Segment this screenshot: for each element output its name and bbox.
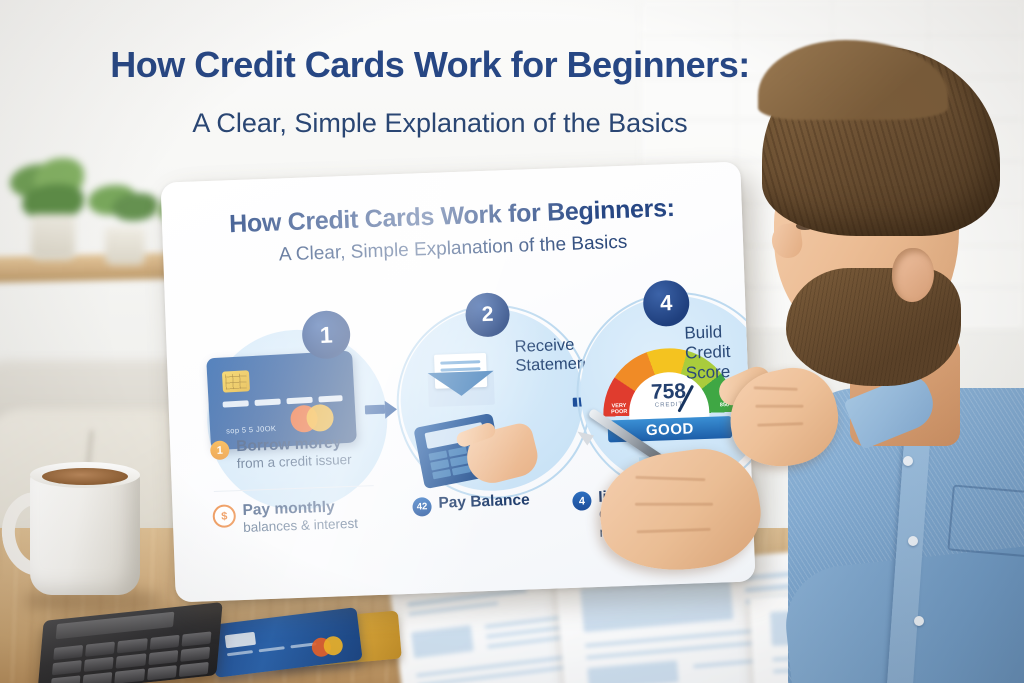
- headline-title: How Credit Cards Work for Beginners:: [0, 44, 860, 86]
- coffee-mug: [30, 470, 140, 595]
- coffee-surface: [42, 468, 128, 485]
- bullet-2-badge: $: [212, 504, 236, 528]
- shirt-button-1: [903, 456, 913, 466]
- shirt-button-3: [914, 616, 924, 626]
- bullet-3-badge: 42: [412, 497, 432, 517]
- beard: [786, 268, 961, 386]
- shirt-pocket: [947, 484, 1024, 557]
- gauge-low-label: VERY POOR: [608, 404, 630, 416]
- bullet-1-badge: 1: [210, 440, 230, 460]
- step-4-number: 4: [660, 290, 673, 316]
- bullet-pay-balance: 42 Pay Balance: [412, 489, 593, 517]
- card-holder-name: sop 5 5 J0OK: [226, 424, 277, 436]
- headline-subtitle-wrap: A Clear, Simple Explanation of the Basic…: [0, 108, 880, 139]
- bullet-4-badge-label: 4: [579, 495, 586, 507]
- bullet-2-badge-label: $: [221, 510, 228, 522]
- mastercard-circle-yellow-icon: [306, 404, 334, 432]
- bullet-3-badge-label: 42: [417, 501, 428, 512]
- shirt-button-2: [908, 536, 918, 546]
- step-1-number: 1: [319, 321, 333, 348]
- card-chip-icon: [222, 370, 250, 392]
- photo-scene: How Credit Cards Work for Beginners: A C…: [0, 0, 1024, 683]
- headline-subtitle: A Clear, Simple Explanation of the Basic…: [0, 108, 880, 139]
- envelope-icon: [427, 359, 495, 407]
- bullet-pay-monthly: $ Pay monthly balances & interest: [212, 496, 403, 537]
- bullet-4-badge: 4: [572, 491, 592, 511]
- bullet-1-badge-label: 1: [217, 444, 224, 456]
- bullet-3-main: Pay Balance: [438, 491, 530, 512]
- headline-title-wrap: How Credit Cards Work for Beginners:: [0, 44, 860, 86]
- step-2-number: 2: [481, 303, 494, 327]
- bullet-borrow-money: 1 Borrow morey from a credit issuer: [210, 432, 401, 473]
- bullet-2-sub: balances & interest: [243, 516, 358, 536]
- credit-rating-label: GOOD: [646, 420, 694, 439]
